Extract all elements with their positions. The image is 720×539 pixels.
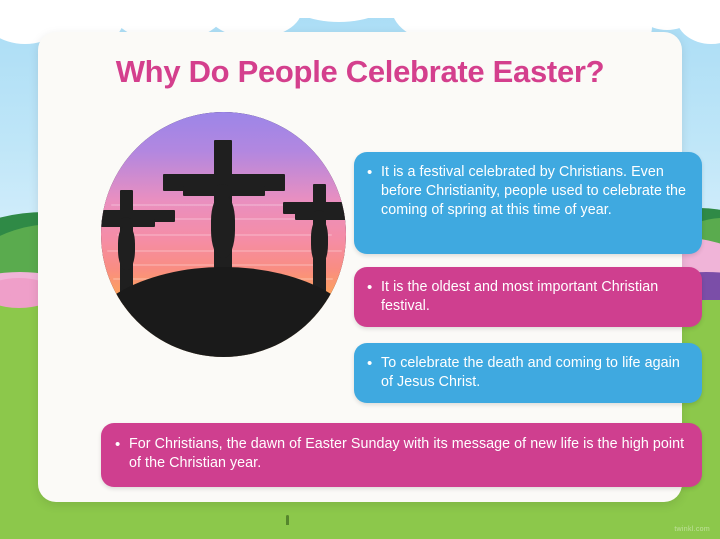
bullet-marker: • <box>115 435 129 477</box>
watermark: twinkl.com <box>674 526 710 533</box>
page-title: Why Do People Celebrate Easter? <box>38 54 682 90</box>
bullet-marker: • <box>367 163 381 244</box>
bullet-text: It is the oldest and most important Chri… <box>381 278 688 317</box>
bullet-text: It is a festival celebrated by Christian… <box>381 163 688 244</box>
bullet-box-1: • It is a festival celebrated by Christi… <box>354 152 702 254</box>
bullet-marker: • <box>367 278 381 317</box>
figure-arms <box>295 212 346 220</box>
bullet-box-3: • To celebrate the death and coming to l… <box>354 343 702 403</box>
slide-card: Why Do People Celebrate Easter? <box>38 32 682 502</box>
grass-sprout <box>286 515 289 525</box>
three-crosses-illustration <box>101 112 346 357</box>
figure-body <box>311 219 328 265</box>
cloud-lobe <box>284 0 394 22</box>
bullet-marker: • <box>367 354 381 393</box>
bullet-box-2: • It is the oldest and most important Ch… <box>354 267 702 327</box>
cloud-lobe <box>676 0 720 44</box>
bullet-box-4: • For Christians, the dawn of Easter Sun… <box>101 423 702 487</box>
bullet-text: For Christians, the dawn of Easter Sunda… <box>129 435 686 477</box>
bullet-text: To celebrate the death and coming to lif… <box>381 354 688 393</box>
